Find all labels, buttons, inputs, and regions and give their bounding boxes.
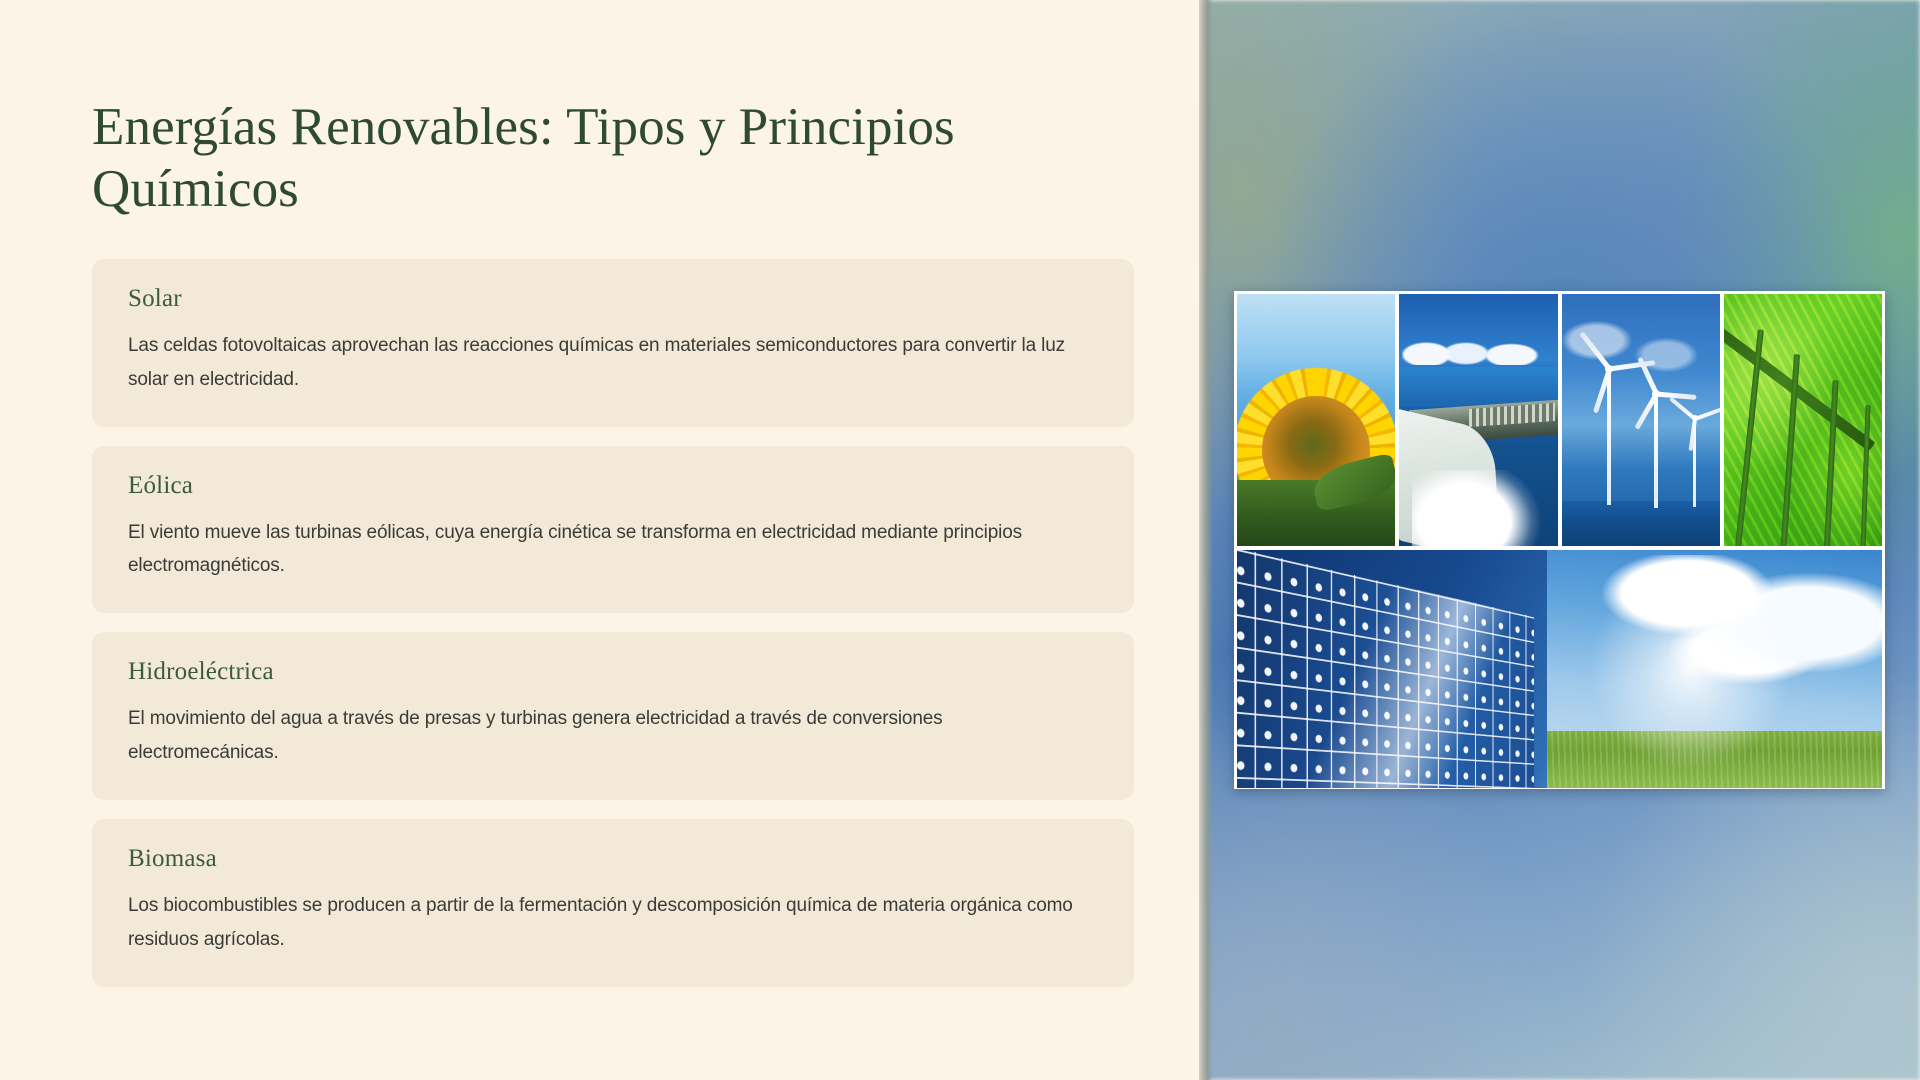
turbine-blade	[1695, 406, 1720, 421]
solar-panel-array	[1237, 550, 1534, 788]
collage-top-row	[1237, 294, 1882, 546]
content-panel: Energías Renovables: Tipos y Principios …	[0, 0, 1199, 1080]
sun-flare	[1585, 564, 1795, 774]
wind-turbine-2	[1631, 390, 1681, 508]
page-title: Energías Renovables: Tipos y Principios …	[92, 96, 1112, 220]
wind-turbines-photo	[1562, 294, 1720, 546]
hydroelectric-dam-photo	[1399, 294, 1557, 546]
card-body: Los biocombustibles se producen a partir…	[128, 889, 1088, 957]
solar-panel-photo	[1237, 550, 1882, 788]
list-item-eolica[interactable]: Eólica El viento mueve las turbinas eóli…	[92, 446, 1134, 614]
card-title: Solar	[128, 285, 1100, 313]
dam-water-foam	[1412, 470, 1551, 546]
list-item-solar[interactable]: Solar Las celdas fotovoltaicas aprovecha…	[92, 259, 1134, 427]
media-panel	[1199, 0, 1920, 1080]
card-body: Las celdas fotovoltaicas aprovechan las …	[128, 329, 1088, 397]
slide-root: Energías Renovables: Tipos y Principios …	[0, 0, 1920, 1080]
card-title: Hidroeléctrica	[128, 658, 1100, 686]
green-leaf-photo	[1724, 294, 1882, 546]
list-item-biomasa[interactable]: Biomasa Los biocombustibles se producen …	[92, 819, 1134, 987]
wind-turbine-1	[1580, 365, 1638, 505]
list-item-hidroelectrica[interactable]: Hidroeléctrica El movimiento del agua a …	[92, 632, 1134, 800]
sunflower-foliage	[1237, 480, 1395, 546]
card-title: Biomasa	[128, 845, 1100, 873]
dam-clouds	[1402, 342, 1554, 365]
wind-turbine-3	[1675, 415, 1715, 507]
sunflower-photo	[1237, 294, 1395, 546]
turbine-mast	[1654, 392, 1658, 508]
renewable-energy-collage	[1234, 291, 1885, 789]
panel-edge-shadow	[1199, 0, 1213, 1080]
card-body: El movimiento del agua a través de presa…	[128, 702, 1088, 770]
card-body: El viento mueve las turbinas eólicas, cu…	[128, 516, 1088, 584]
turbine-mast	[1607, 367, 1611, 505]
energy-type-list: Solar Las celdas fotovoltaicas aprovecha…	[92, 259, 1121, 987]
turbine-blade	[1656, 391, 1696, 399]
card-title: Eólica	[128, 472, 1100, 500]
solar-panel-glare	[1237, 550, 1534, 788]
